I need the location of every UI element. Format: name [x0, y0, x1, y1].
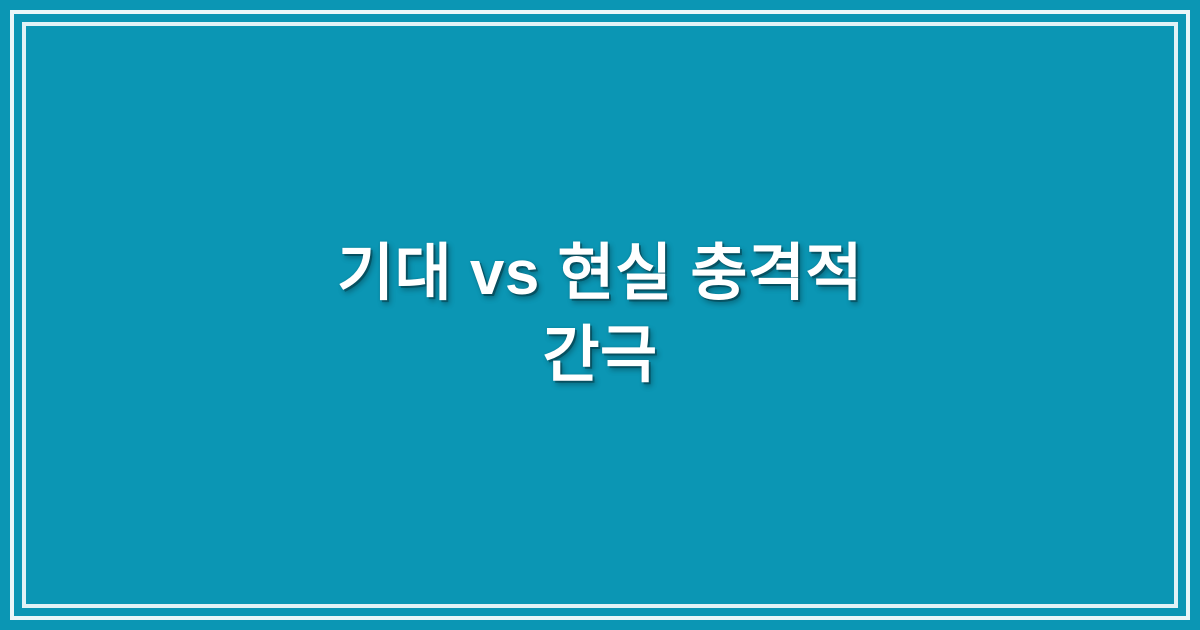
thumbnail-card: 기대 vs 현실 충격적 간극 — [0, 0, 1200, 630]
page-title: 기대 vs 현실 충격적 간극 — [280, 233, 920, 397]
title-area: 기대 vs 현실 충격적 간극 — [0, 0, 1200, 630]
